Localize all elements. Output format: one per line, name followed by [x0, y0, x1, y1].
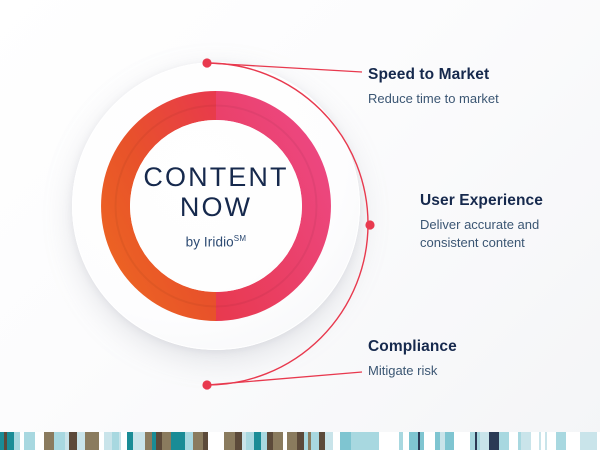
- accent-strip-bar: [379, 432, 389, 450]
- accent-strip-bar: [531, 432, 539, 450]
- callout-compliance: Compliance Mitigate risk: [368, 338, 457, 380]
- accent-strip-bar: [7, 432, 14, 450]
- content-now-ring: CONTENT NOW by IridioSM: [72, 62, 360, 350]
- accent-strip-bar: [460, 432, 470, 450]
- accent-strip-bar: [208, 432, 219, 450]
- accent-strip-bar: [104, 432, 112, 450]
- accent-strip-bar: [556, 432, 566, 450]
- accent-strip-bar: [333, 432, 340, 450]
- accent-strip-bar: [90, 432, 99, 450]
- accent-strip-bar: [409, 432, 418, 450]
- callout-title: User Experience: [420, 192, 580, 211]
- accent-strip-bar: [273, 432, 283, 450]
- accent-strip-bar: [235, 432, 242, 450]
- brand-title-line2: NOW: [180, 193, 252, 222]
- callout-title: Speed to Market: [368, 66, 499, 85]
- callout-title: Compliance: [368, 338, 457, 357]
- accent-strip-bar: [325, 432, 333, 450]
- brand-byline-text: by Iridio: [186, 234, 234, 249]
- accent-strip-bar: [566, 432, 575, 450]
- brand-byline: by IridioSM: [186, 234, 247, 250]
- accent-strip-bar: [69, 432, 77, 450]
- connector-dot-compliance: [202, 380, 211, 389]
- accent-strip-bar: [224, 432, 235, 450]
- service-mark-symbol: SM: [234, 234, 247, 243]
- accent-strip-bar: [246, 432, 254, 450]
- accent-strip-bar: [297, 432, 304, 450]
- footer-accent-strip: [0, 432, 600, 450]
- accent-strip-bar: [351, 432, 361, 450]
- accent-strip-bar: [342, 432, 351, 450]
- accent-strip-bar: [193, 432, 203, 450]
- callout-description: Deliver accurate and consistent content: [420, 216, 580, 252]
- callout-description: Mitigate risk: [368, 362, 457, 380]
- accent-strip-bar: [35, 432, 44, 450]
- accent-strip-bar: [580, 432, 589, 450]
- brand-title-line1: CONTENT: [143, 163, 288, 192]
- accent-strip-bar: [24, 432, 35, 450]
- leader-line-compliance: [207, 372, 362, 385]
- accent-strip-bar: [287, 432, 297, 450]
- accent-strip-bar: [521, 432, 531, 450]
- accent-strip-bar: [370, 432, 377, 450]
- accent-strip-bar: [489, 432, 499, 450]
- accent-strip-bar: [254, 432, 261, 450]
- slide-canvas: CONTENT NOW by IridioSM Speed to Market …: [0, 0, 600, 450]
- accent-strip-bar: [44, 432, 54, 450]
- connector-dot-user-experience: [365, 220, 374, 229]
- accent-strip-bar: [445, 432, 454, 450]
- accent-strip-bar: [589, 432, 597, 450]
- accent-strip-bar: [424, 432, 435, 450]
- accent-strip-bar: [480, 432, 489, 450]
- accent-strip-bar: [499, 432, 509, 450]
- callout-speed-to-market: Speed to Market Reduce time to market: [368, 66, 499, 108]
- callout-user-experience: User Experience Deliver accurate and con…: [420, 192, 580, 251]
- accent-strip-bar: [509, 432, 518, 450]
- ring-inner-core: CONTENT NOW by IridioSM: [130, 120, 302, 292]
- accent-strip-bar: [54, 432, 65, 450]
- accent-strip-bar: [145, 432, 152, 450]
- accent-strip-bar: [177, 432, 185, 450]
- accent-strip-bar: [162, 432, 171, 450]
- accent-strip-bar: [361, 432, 370, 450]
- callout-description: Reduce time to market: [368, 90, 499, 108]
- accent-strip-bar: [112, 432, 119, 450]
- accent-strip-bar: [185, 432, 193, 450]
- accent-strip-bar: [77, 432, 85, 450]
- accent-strip-bar: [547, 432, 556, 450]
- accent-strip-bar: [389, 432, 399, 450]
- accent-strip-bar: [133, 432, 142, 450]
